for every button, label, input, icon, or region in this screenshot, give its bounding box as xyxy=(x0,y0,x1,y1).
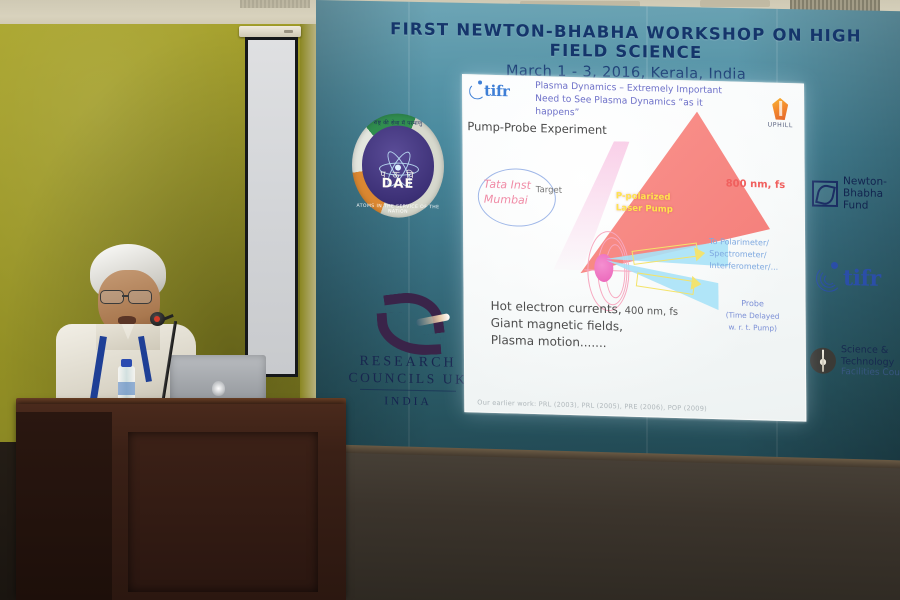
podium-side-panel xyxy=(16,412,112,600)
slide-surface: tifr Plasma Dynamics – Extremely Importa… xyxy=(463,75,805,421)
ceiling-tile xyxy=(700,0,770,7)
tifr-dot-icon xyxy=(478,80,482,84)
slide-bullets: Hot electron currents, Giant magnetic fi… xyxy=(491,298,624,353)
dae-acronym: DAE xyxy=(362,176,434,192)
research-councils-uk-logo: RESEARCH COUNCILS UK INDIA xyxy=(348,291,468,413)
ceiling-vent xyxy=(240,0,310,8)
stfc-orb-icon xyxy=(810,347,836,373)
tifr-wave-icon xyxy=(469,83,485,99)
secondary-projection-screen xyxy=(245,37,298,377)
stfc-logo: Science & Technology Facilities Council xyxy=(810,343,900,379)
bottle-cap xyxy=(121,359,132,367)
pump-beam-label: P-polarized Laser Pump xyxy=(616,191,673,216)
projector-screen-case xyxy=(239,26,301,37)
rcuk-line2: COUNCILS UK xyxy=(348,370,468,388)
newton-bhabha-fund-logo: Newton-Bhabha Fund xyxy=(812,176,900,214)
photograph-scene: FIRST NEWTON-BHABHA WORKSHOP ON HIGH FIE… xyxy=(0,0,900,600)
arrow-head-icon xyxy=(691,276,703,291)
flame-icon xyxy=(772,98,788,120)
apple-logo-icon xyxy=(212,381,225,396)
pump-wavelength-label: 800 nm, fs xyxy=(726,178,786,191)
dae-motto: ATOMS IN THE SERVICE OF THE NATION xyxy=(352,204,444,216)
bottle-label xyxy=(118,382,135,395)
newton-bhabha-mark-icon xyxy=(812,181,838,207)
diagnostics-label: To Polarimeter/ Spectrometer/ Interferom… xyxy=(709,236,778,274)
arrow-head-icon xyxy=(694,246,706,261)
eyeglasses-icon xyxy=(98,290,160,302)
projected-slide: tifr Plasma Dynamics – Extremely Importa… xyxy=(462,74,806,422)
slide-headline: Plasma Dynamics – Extremely Important Ne… xyxy=(535,80,745,124)
uphill-logo: UPHILL xyxy=(762,97,798,129)
rcuk-line3: INDIA xyxy=(348,394,468,408)
institute-label: Tata Inst Mumbai xyxy=(484,178,531,209)
probe-wavelength-label: 400 nm, fs xyxy=(625,306,679,318)
tifr-wordmark: tifr xyxy=(484,82,510,101)
rcuk-swoosh-icon xyxy=(370,291,446,350)
stfc-wordmark: Science & Technology Facilities Council xyxy=(841,344,900,379)
microphone-head[interactable] xyxy=(150,312,165,326)
divider xyxy=(360,388,456,391)
tifr-dot-icon xyxy=(831,262,838,269)
tifr-logo-slide: tifr xyxy=(469,79,533,103)
tifr-logo-banner: tifr xyxy=(816,260,900,302)
podium-front-panel xyxy=(128,432,318,592)
dae-inner-disc: प ऊ वि DAE xyxy=(362,125,434,205)
slide-bullet: Plasma motion....... xyxy=(491,332,623,353)
dae-logo: प ऊ वि DAE राष्ट्र की सेवा में परमाणु AT… xyxy=(352,113,444,219)
uphill-label: UPHILL xyxy=(762,121,798,129)
screen-knob xyxy=(284,30,293,33)
tifr-wave-icon xyxy=(816,266,842,292)
plasma-blob xyxy=(594,254,613,283)
newton-bhabha-wordmark: Newton-Bhabha Fund xyxy=(843,176,900,212)
target-label: Target xyxy=(536,185,562,196)
floor xyxy=(316,452,900,600)
tifr-wordmark: tifr xyxy=(843,265,881,292)
probe-label: Probe (Time Delayed w. r. t. Pump) xyxy=(713,297,793,335)
